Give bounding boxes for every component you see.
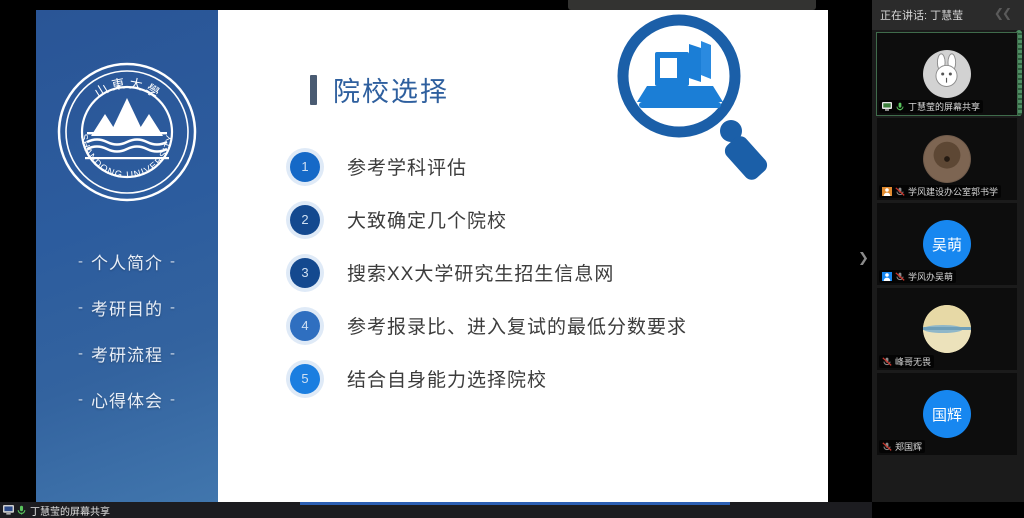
- participant-tile-1[interactable]: 学风建设办公室郭书学: [877, 118, 1017, 200]
- shared-screen-region[interactable]: 山 東 大 學 SHANDONG UNIVERSITY - 个人简介 -: [0, 10, 872, 502]
- shandong-university-logo: 山 東 大 學 SHANDONG UNIVERSITY: [57, 62, 197, 202]
- speaking-label: 正在讲话: 丁慧莹: [880, 7, 963, 23]
- slide-nav-label: 心得体会: [91, 387, 163, 412]
- participant-tile-4[interactable]: 国辉 郑国辉: [877, 373, 1017, 455]
- participant-name-bar: 学风建设办公室郭书学: [879, 185, 1001, 198]
- microphone-muted-icon: [895, 187, 905, 196]
- slide-nav-item-2[interactable]: - 考研流程 -: [36, 330, 218, 376]
- slide-content: 院校选择: [218, 10, 828, 502]
- step-label: 参考学科评估: [347, 153, 467, 180]
- nav-dash-right: -: [170, 299, 176, 316]
- step-label: 搜索XX大学研究生招生信息网: [347, 259, 614, 286]
- step-item-5[interactable]: 5 结合自身能力选择院校: [290, 352, 830, 405]
- participant-name: 学风办吴萌: [908, 270, 953, 283]
- step-item-2[interactable]: 2 大致确定几个院校: [290, 193, 830, 246]
- top-strip: [0, 0, 872, 10]
- step-number-badge: 5: [290, 364, 320, 394]
- slide-nav-item-1[interactable]: - 考研目的 -: [36, 284, 218, 330]
- avatar: [923, 135, 971, 183]
- taskbar-label: 丁慧莹的屏幕共享: [30, 503, 110, 518]
- avatar: 国辉: [923, 390, 971, 438]
- participant-name: 丁慧莹的屏幕共享: [908, 100, 980, 113]
- participant-name-bar: 丁慧莹的屏幕共享: [879, 100, 983, 113]
- participant-name-bar: 郑国辉: [879, 440, 925, 453]
- screen-share-icon: [3, 505, 14, 515]
- meeting-screen-share-window: 山 東 大 學 SHANDONG UNIVERSITY - 个人简介 -: [0, 0, 1024, 518]
- participants-rail: 正在讲话: 丁慧莹 ❮❮: [872, 0, 1024, 518]
- nav-dash-left: -: [78, 299, 84, 316]
- participant-tile-2[interactable]: 吴萌 学风办吴萌: [877, 203, 1017, 285]
- nav-dash-left: -: [78, 391, 84, 408]
- step-label: 参考报录比、进入复试的最低分数要求: [347, 312, 687, 339]
- participant-name-bar: 峰哥无畏: [879, 355, 934, 368]
- nav-dash-right: -: [170, 345, 176, 362]
- microphone-muted-icon: [882, 442, 892, 451]
- participant-name-bar: 学风办吴萌: [879, 270, 956, 283]
- step-label: 结合自身能力选择院校: [347, 365, 547, 392]
- slide-title-row: 院校选择: [310, 70, 449, 109]
- microphone-icon: [16, 505, 27, 515]
- chevron-right-icon[interactable]: ❯: [858, 250, 869, 266]
- slide-sidebar: 山 東 大 學 SHANDONG UNIVERSITY - 个人简介 -: [36, 10, 218, 502]
- slide-nav-label: 考研流程: [91, 341, 163, 366]
- step-number-badge: 3: [290, 258, 320, 288]
- slide-nav-item-0[interactable]: - 个人简介 -: [36, 238, 218, 284]
- speaking-indicator: 正在讲话: 丁慧莹 ❮❮: [872, 0, 1024, 30]
- participant-name: 学风建设办公室郭书学: [908, 185, 998, 198]
- participant-name: 郑国辉: [895, 440, 922, 453]
- taskbar-progress-strip: [300, 502, 730, 505]
- step-number-badge: 1: [290, 152, 320, 182]
- nav-dash-left: -: [78, 345, 84, 362]
- nav-dash-right: -: [170, 253, 176, 270]
- chevron-left-icon[interactable]: ❮❮: [994, 6, 1010, 20]
- step-item-3[interactable]: 3 搜索XX大学研究生招生信息网: [290, 246, 830, 299]
- meeting-toolbar-peek[interactable]: [568, 0, 816, 10]
- slide-title: 院校选择: [333, 70, 449, 109]
- microphone-muted-icon: [882, 357, 892, 366]
- participant-tile-0[interactable]: 丁慧莹的屏幕共享: [877, 33, 1017, 115]
- presentation-slide: 山 東 大 學 SHANDONG UNIVERSITY - 个人简介 -: [36, 10, 828, 502]
- slide-nav-list: - 个人简介 - - 考研目的 - - 考研流程 -: [36, 238, 218, 422]
- svg-text:山 東 大 學: 山 東 大 學: [92, 76, 162, 101]
- slide-nav-item-3[interactable]: - 心得体会 -: [36, 376, 218, 422]
- step-item-4[interactable]: 4 参考报录比、进入复试的最低分数要求: [290, 299, 830, 352]
- steps-list: 1 参考学科评估 2 大致确定几个院校 3 搜索XX大学研究生招生信息网 4 参…: [290, 140, 830, 405]
- slide-nav-label: 个人简介: [91, 249, 163, 274]
- participant-tile-3[interactable]: 峰哥无畏: [877, 288, 1017, 370]
- nav-dash-left: -: [78, 253, 84, 270]
- avatar: [923, 50, 971, 98]
- person-icon: [882, 187, 892, 196]
- title-accent-bar: [310, 75, 317, 105]
- taskbar[interactable]: 丁慧莹的屏幕共享: [0, 502, 872, 518]
- avatar: 吴萌: [923, 220, 971, 268]
- participant-name: 峰哥无畏: [895, 355, 931, 368]
- step-number-badge: 2: [290, 205, 320, 235]
- screen-share-icon: [882, 102, 892, 111]
- slide-nav-label: 考研目的: [91, 295, 163, 320]
- step-number-badge: 4: [290, 311, 320, 341]
- taskbar-right-filler: [872, 502, 1024, 518]
- microphone-icon: [895, 102, 905, 111]
- step-label: 大致确定几个院校: [347, 206, 507, 233]
- avatar: [923, 305, 971, 353]
- microphone-muted-icon: [895, 272, 905, 281]
- step-item-1[interactable]: 1 参考学科评估: [290, 140, 830, 193]
- nav-dash-right: -: [170, 391, 176, 408]
- person-icon: [882, 272, 892, 281]
